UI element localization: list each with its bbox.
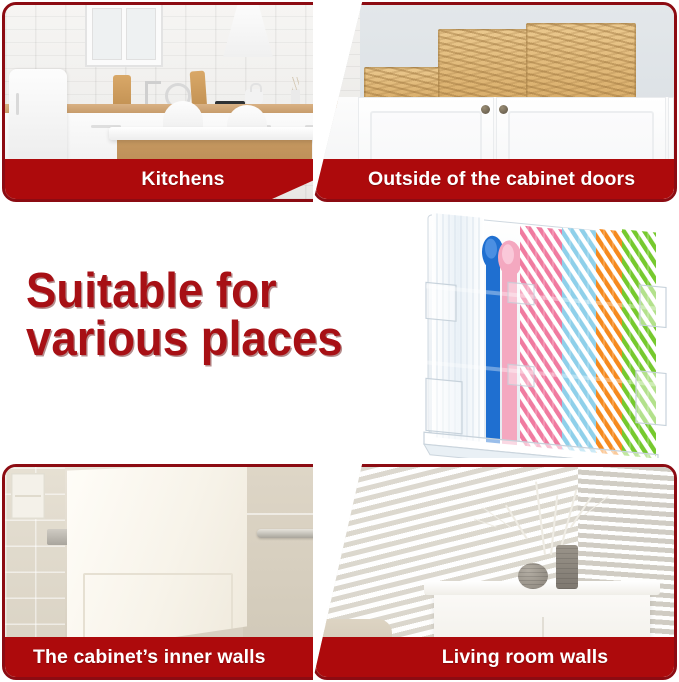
- panel-inner-walls-frame: The cabinet’s inner walls: [2, 464, 364, 680]
- wicker-basket-large: [526, 23, 636, 99]
- panel-kitchens-frame: Kitchens: [2, 2, 364, 202]
- panel-living-room[interactable]: Living room walls: [313, 464, 677, 680]
- product-illustration: [408, 206, 674, 458]
- panel-cabinet-doors[interactable]: Outside of the cabinet doors: [313, 2, 677, 202]
- infographic-stage: Kitchens Outside of the cabinet doors: [0, 0, 679, 682]
- panel-cabinet-doors-caption: Outside of the cabinet doors: [316, 159, 674, 199]
- kitchen-island-top: [109, 127, 321, 140]
- panel-living-room-frame: Living room walls: [313, 464, 677, 680]
- panel-inner-walls[interactable]: The cabinet’s inner walls: [2, 464, 364, 680]
- decorative-branches: [466, 469, 616, 553]
- round-ceramic-vase: [518, 563, 548, 589]
- open-cabinet-door: [67, 467, 247, 653]
- cabinet-knob-left: [481, 105, 490, 114]
- panel-living-room-caption: Living room walls: [316, 637, 674, 677]
- kitchen-refrigerator: [9, 69, 67, 167]
- inner-walls-shelf: [11, 473, 45, 519]
- straws-orange-striped: [596, 229, 622, 456]
- panel-kitchens[interactable]: Kitchens: [2, 2, 364, 202]
- kitchen-kettle: [245, 89, 263, 105]
- kitchen-upper-cabinet: [85, 5, 163, 67]
- wicker-basket-medium: [438, 29, 528, 99]
- panel-inner-walls-caption: The cabinet’s inner walls: [5, 637, 361, 677]
- panel-cabinet-doors-frame: Outside of the cabinet doors: [313, 2, 677, 202]
- product-straw-organizer: [408, 206, 674, 458]
- tall-ceramic-vase: [556, 545, 578, 589]
- wicker-basket-small: [364, 67, 440, 99]
- straws-pink-striped: [520, 225, 562, 449]
- cabinet-knob-right: [499, 105, 508, 114]
- page-title: Suitable for various places: [26, 268, 379, 363]
